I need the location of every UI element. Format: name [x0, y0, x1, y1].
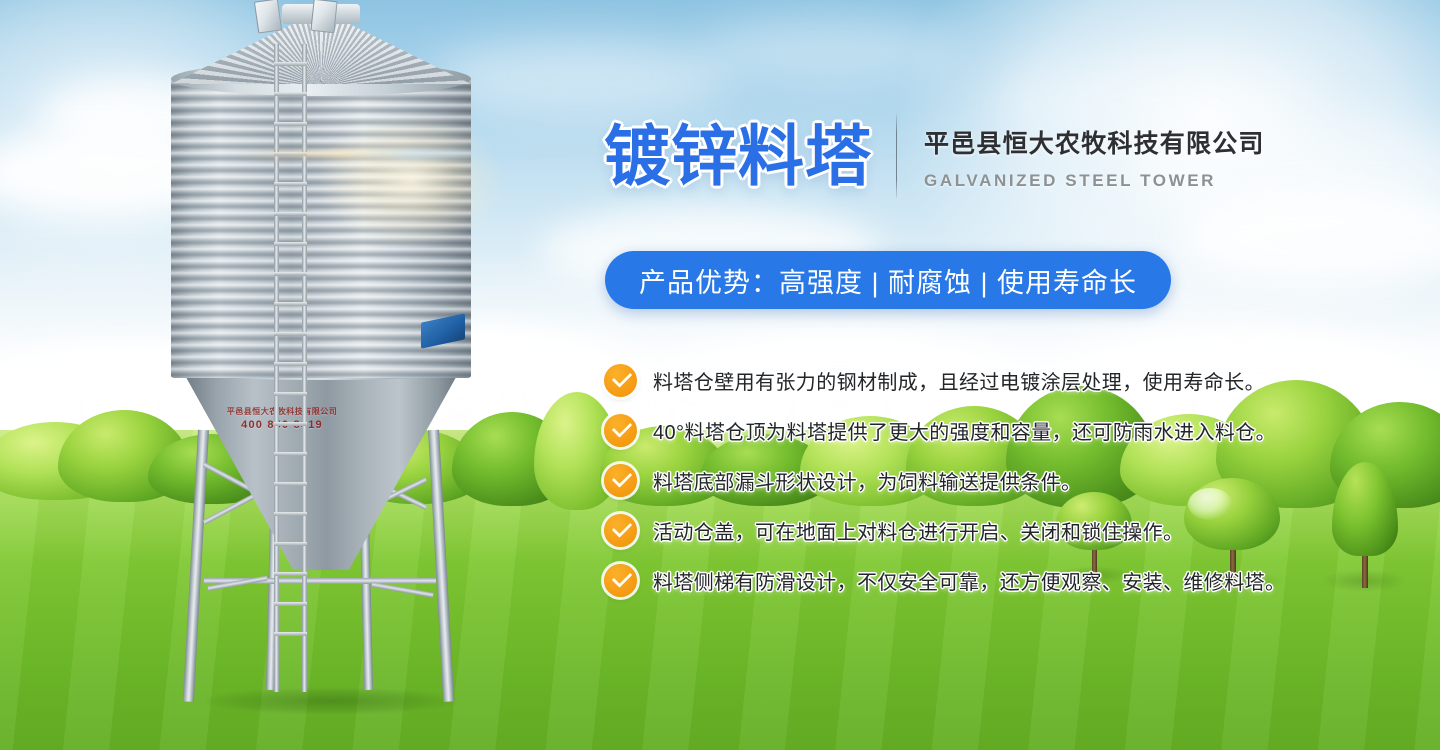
silo-ladder-rung: [274, 152, 307, 156]
silo-hopper-cone: [182, 370, 460, 570]
hero-banner: 平邑县恒大农牧科技有限公司 400 850 8819: [0, 0, 1440, 750]
silo-ladder-rung: [274, 632, 307, 636]
silo-ladder-rung: [274, 392, 307, 396]
silo-ladder-rung: [274, 512, 307, 516]
feature-list: 料塔仓壁用有张力的钢材制成，且经过电镀涂层处理，使用寿命长。 40°料塔仓顶为料…: [604, 355, 1304, 605]
check-circle-icon: [604, 514, 637, 547]
silo-horizontal-brace: [372, 582, 434, 598]
page-title: 镀锌料塔: [604, 123, 872, 189]
silo-ladder-rung: [274, 242, 307, 246]
advantage-pill: 产品优势：高强度 | 耐腐蚀 | 使用寿命长: [605, 251, 1171, 309]
feature-text: 料塔侧梯有防滑设计，不仅安全可靠，还方便观察、安装、维修料塔。: [653, 566, 1285, 595]
list-item: 料塔仓壁用有张力的钢材制成，且经过电镀涂层处理，使用寿命长。: [604, 355, 1304, 405]
feature-text: 料塔仓壁用有张力的钢材制成，且经过电镀涂层处理，使用寿命长。: [653, 366, 1265, 395]
silo-ladder-rung: [274, 452, 307, 456]
company-subtitle-en: GALVANIZED STEEL TOWER: [924, 171, 1265, 191]
silo-leg: [183, 430, 209, 702]
list-item: 料塔底部漏斗形状设计，为饲料输送提供条件。: [604, 455, 1304, 505]
silo-ladder-rung: [274, 92, 307, 96]
silo-ladder-rung: [274, 182, 307, 186]
silo-roof-hatch-left: [254, 0, 282, 34]
silo-leg: [428, 430, 454, 702]
check-circle-icon: [604, 464, 637, 497]
check-circle-icon: [604, 564, 637, 597]
company-name: 平邑县恒大农牧科技有限公司: [924, 124, 1265, 160]
silo-ladder-rung: [274, 572, 307, 576]
check-circle-icon: [604, 414, 637, 447]
silo-roof-hatch-right: [310, 0, 337, 33]
silo-ladder-rung: [274, 272, 307, 276]
title-row: 镀锌料塔 平邑县恒大农牧科技有限公司 GALVANIZED STEEL TOWE…: [604, 114, 1265, 198]
list-item: 活动仓盖，可在地面上对料仓进行开启、关闭和锁住操作。: [604, 505, 1304, 555]
silo-ground-shadow: [206, 688, 456, 714]
advantage-pill-label: 产品优势：高强度 | 耐腐蚀 | 使用寿命长: [639, 261, 1137, 300]
silo-ladder-rail-right: [302, 44, 307, 692]
silo-ladder-rung: [274, 422, 307, 426]
title-divider: [896, 114, 897, 198]
silo-ladder-rung: [274, 542, 307, 546]
feature-text: 料塔底部漏斗形状设计，为饲料输送提供条件。: [653, 466, 1081, 495]
product-image-silo: 平邑县恒大农牧科技有限公司 400 850 8819: [86, 0, 526, 750]
silo-ladder-rail-left: [274, 44, 279, 692]
silo-ladder-rung: [274, 332, 307, 336]
company-block: 平邑县恒大农牧科技有限公司 GALVANIZED STEEL TOWER: [924, 122, 1265, 191]
feature-text: 活动仓盖，可在地面上对料仓进行开启、关闭和锁住操作。: [653, 516, 1183, 545]
list-item: 料塔侧梯有防滑设计，不仅安全可靠，还方便观察、安装、维修料塔。: [604, 555, 1304, 605]
silo-ladder-rung: [274, 302, 307, 306]
silo-ladder-rung: [274, 482, 307, 486]
silo-ladder-rung: [274, 212, 307, 216]
check-circle-icon: [604, 364, 637, 397]
silo-ladder-rung: [274, 602, 307, 606]
banner-content: 镀锌料塔 平邑县恒大农牧科技有限公司 GALVANIZED STEEL TOWE…: [604, 0, 1404, 750]
silo-ladder-rung: [274, 362, 307, 366]
silo-ladder-rung: [274, 122, 307, 126]
feature-text: 40°料塔仓顶为料塔提供了更大的强度和容量，还可防雨水进入料仓。: [653, 416, 1276, 445]
silo-ladder-rung: [274, 62, 307, 66]
list-item: 40°料塔仓顶为料塔提供了更大的强度和容量，还可防雨水进入料仓。: [604, 405, 1304, 455]
